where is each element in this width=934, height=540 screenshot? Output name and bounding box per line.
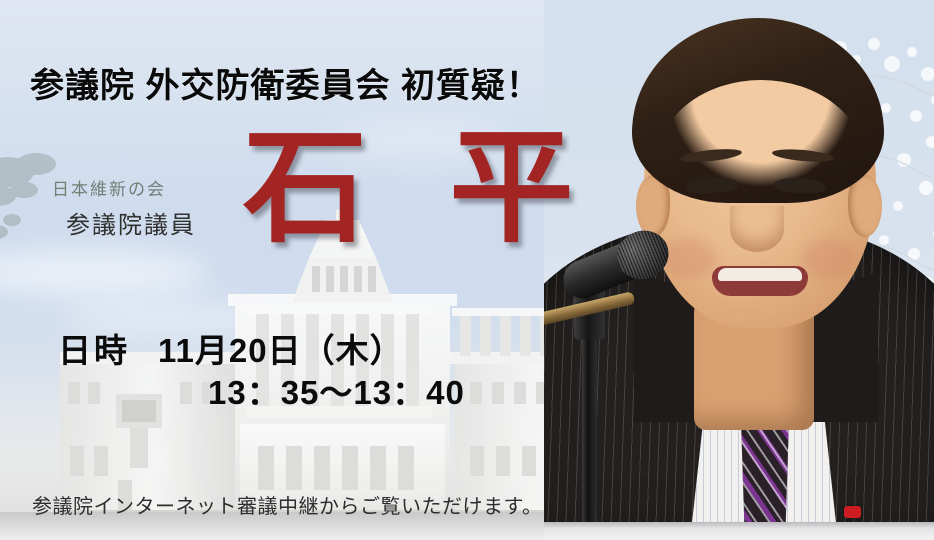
viewing-notice: 参議院インターネット審議中継からご覧いただけます。 是非、ご視聴ください！ ht… xyxy=(32,440,543,540)
speaker-name: 石 平 xyxy=(243,126,597,250)
nose xyxy=(730,206,784,252)
headline: 参議院 外交防衛委員会 初質疑！ xyxy=(30,58,541,107)
date-value: 11月20日（木） xyxy=(158,324,404,372)
time-value: 13：35〜13：40 xyxy=(208,366,465,414)
role-title: 参議院議員 xyxy=(66,205,196,240)
date-label: 日時 xyxy=(58,324,130,372)
announcement-banner: 参議院 外交防衛委員会 初質疑！ 日本維新の会 参議院議員 石 平 日時 11月… xyxy=(0,0,934,540)
notice-line-1: 参議院インターネット審議中継からご覧いただけます。 xyxy=(32,494,543,521)
cheek-left xyxy=(662,238,716,278)
diet-member-lapel-pin xyxy=(844,506,861,518)
speaker-portrait xyxy=(544,0,934,540)
podium-edge xyxy=(544,522,934,540)
party-affiliation: 日本維新の会 xyxy=(52,175,166,200)
mouth xyxy=(712,266,808,296)
cheek-right xyxy=(802,238,856,278)
microphone-stand xyxy=(582,310,597,540)
